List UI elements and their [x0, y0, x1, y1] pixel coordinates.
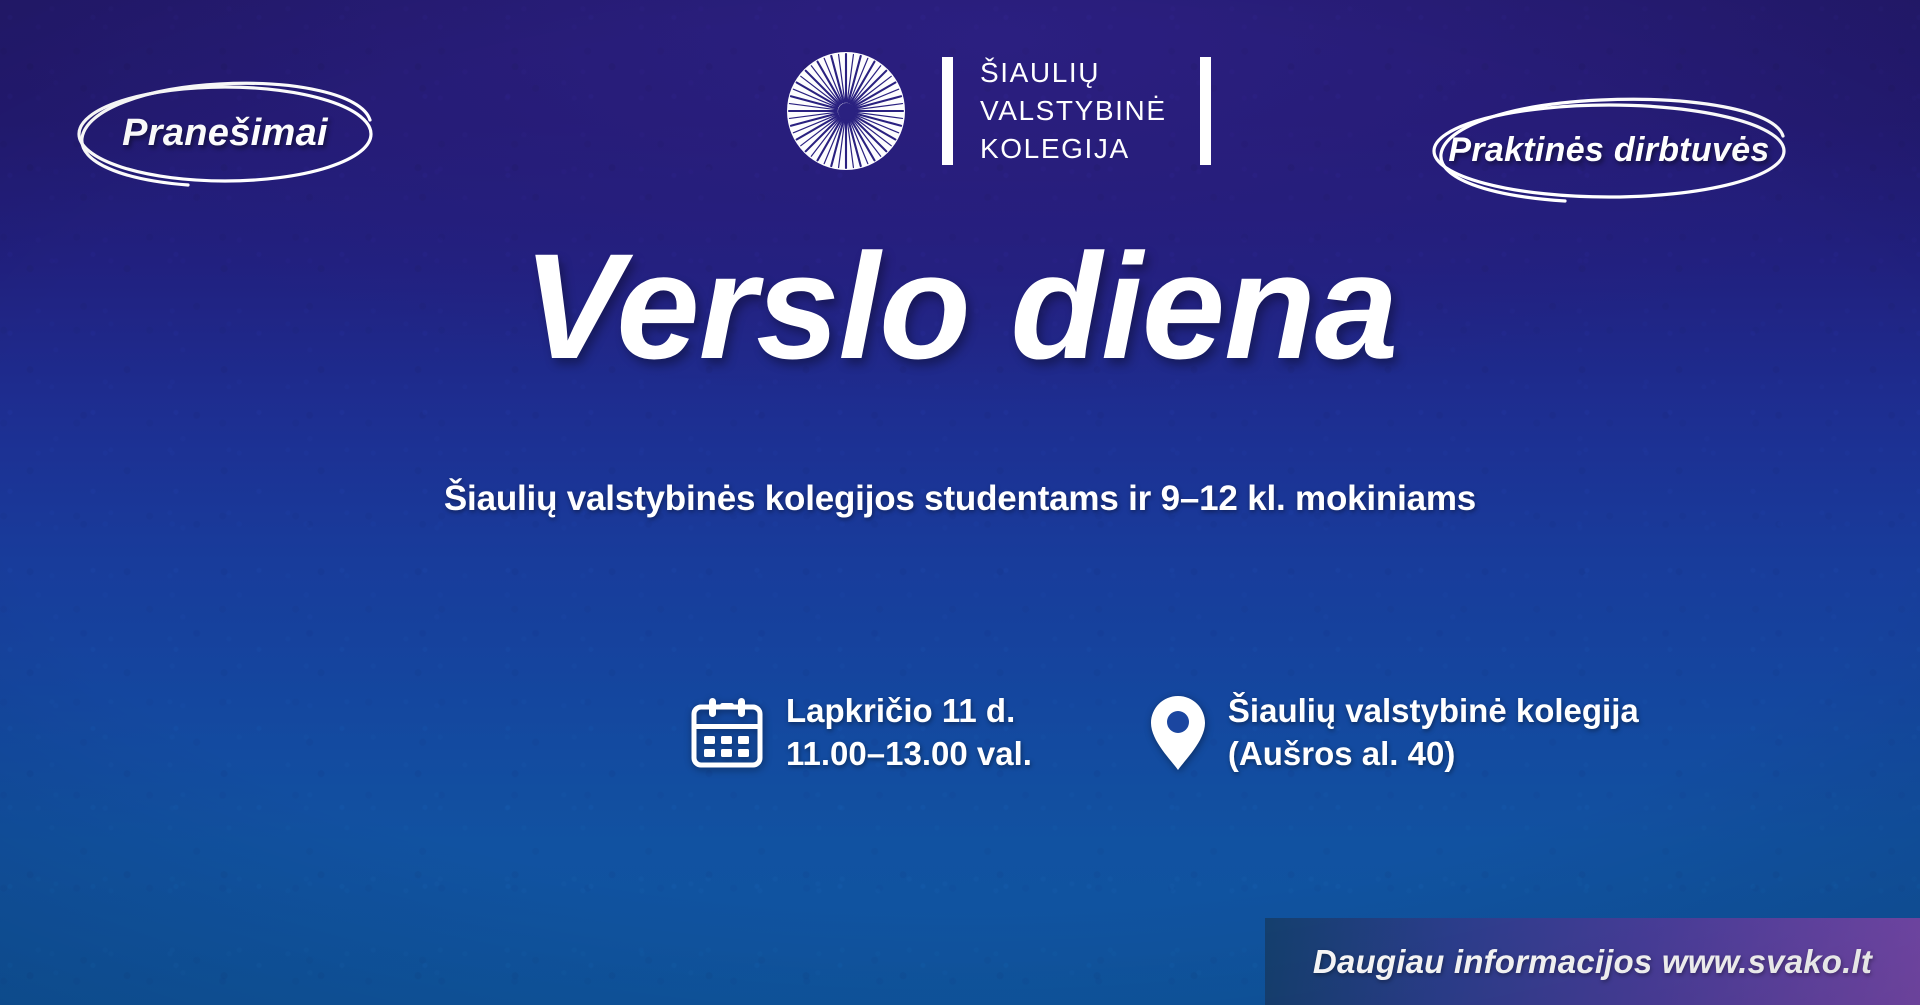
- event-place-line-1: Šiaulių valstybinė kolegija: [1228, 690, 1639, 733]
- logo-line-2: VALSTYBINĖ: [980, 93, 1167, 129]
- event-place-item: Šiaulių valstybinė kolegija (Aušros al. …: [1150, 690, 1639, 776]
- institution-logo: ŠIAULIŲ VALSTYBINĖ KOLEGIJA: [787, 52, 1211, 170]
- sunburst-hub: [838, 103, 855, 120]
- event-date-line-1: Lapkričio 11 d.: [786, 690, 1032, 733]
- badge-praktines-dirbtuves-label: Praktinės dirbtuvės: [1425, 96, 1793, 204]
- event-date-line-2: 11.00–13.00 val.: [786, 733, 1032, 776]
- page-title: Verslo diena: [0, 230, 1920, 383]
- event-place-text: Šiaulių valstybinė kolegija (Aušros al. …: [1228, 690, 1639, 776]
- logo-wordmark: ŠIAULIŲ VALSTYBINĖ KOLEGIJA: [980, 55, 1167, 166]
- badge-pranesimai: Pranešimai: [70, 78, 380, 188]
- map-pin-icon: [1150, 695, 1206, 771]
- calendar-icon: [690, 696, 764, 770]
- badge-praktines-dirbtuves: Praktinės dirbtuvės: [1425, 96, 1793, 204]
- event-details: Lapkričio 11 d. 11.00–13.00 val. Šiaulių…: [690, 690, 1639, 776]
- laptop-photo: [0, 585, 600, 1005]
- logo-divider-bar-right: [1200, 57, 1211, 165]
- sunburst-circle-icon: [787, 52, 905, 170]
- event-date-text: Lapkričio 11 d. 11.00–13.00 val.: [786, 690, 1032, 776]
- logo-line-3: KOLEGIJA: [980, 131, 1167, 167]
- logo-line-1: ŠIAULIŲ: [980, 55, 1167, 91]
- logo-divider-bar-left: [942, 57, 953, 165]
- event-place-line-2: (Aušros al. 40): [1228, 733, 1639, 776]
- more-info-bar[interactable]: Daugiau informacijos www.svako.lt: [1265, 918, 1920, 1005]
- more-info-label[interactable]: Daugiau informacijos www.svako.lt: [1313, 943, 1872, 981]
- poster-canvas: ŠIAULIŲ VALSTYBINĖ KOLEGIJA Pranešimai P…: [0, 0, 1920, 1005]
- badge-pranesimai-label: Pranešimai: [70, 78, 380, 188]
- event-date-item: Lapkričio 11 d. 11.00–13.00 val.: [690, 690, 1032, 776]
- page-subtitle: Šiaulių valstybinės kolegijos studentams…: [0, 479, 1920, 519]
